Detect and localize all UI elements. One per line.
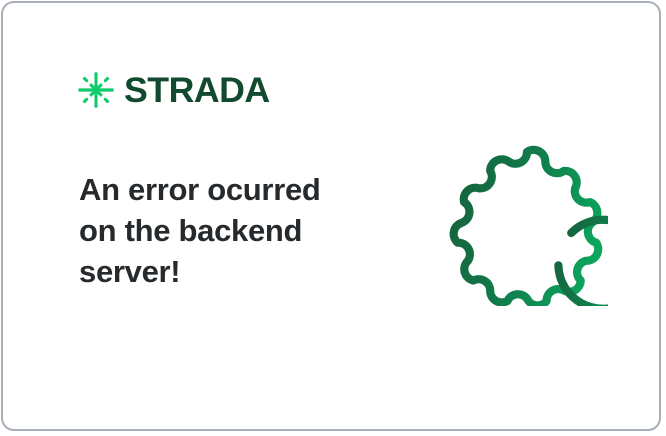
error-message-line: server! (79, 251, 379, 292)
error-card: STRADA An error ocurred on the backend s… (1, 1, 661, 431)
error-message: An error ocurred on the backend server! (79, 169, 379, 292)
brand-lockup: STRADA (77, 71, 267, 109)
error-message-line: on the backend (79, 210, 379, 251)
gear-outline-icon (446, 144, 608, 306)
error-message-line: An error ocurred (79, 169, 379, 210)
brand-wordmark: STRADA (124, 73, 270, 108)
strada-asterisk-icon (77, 71, 115, 109)
